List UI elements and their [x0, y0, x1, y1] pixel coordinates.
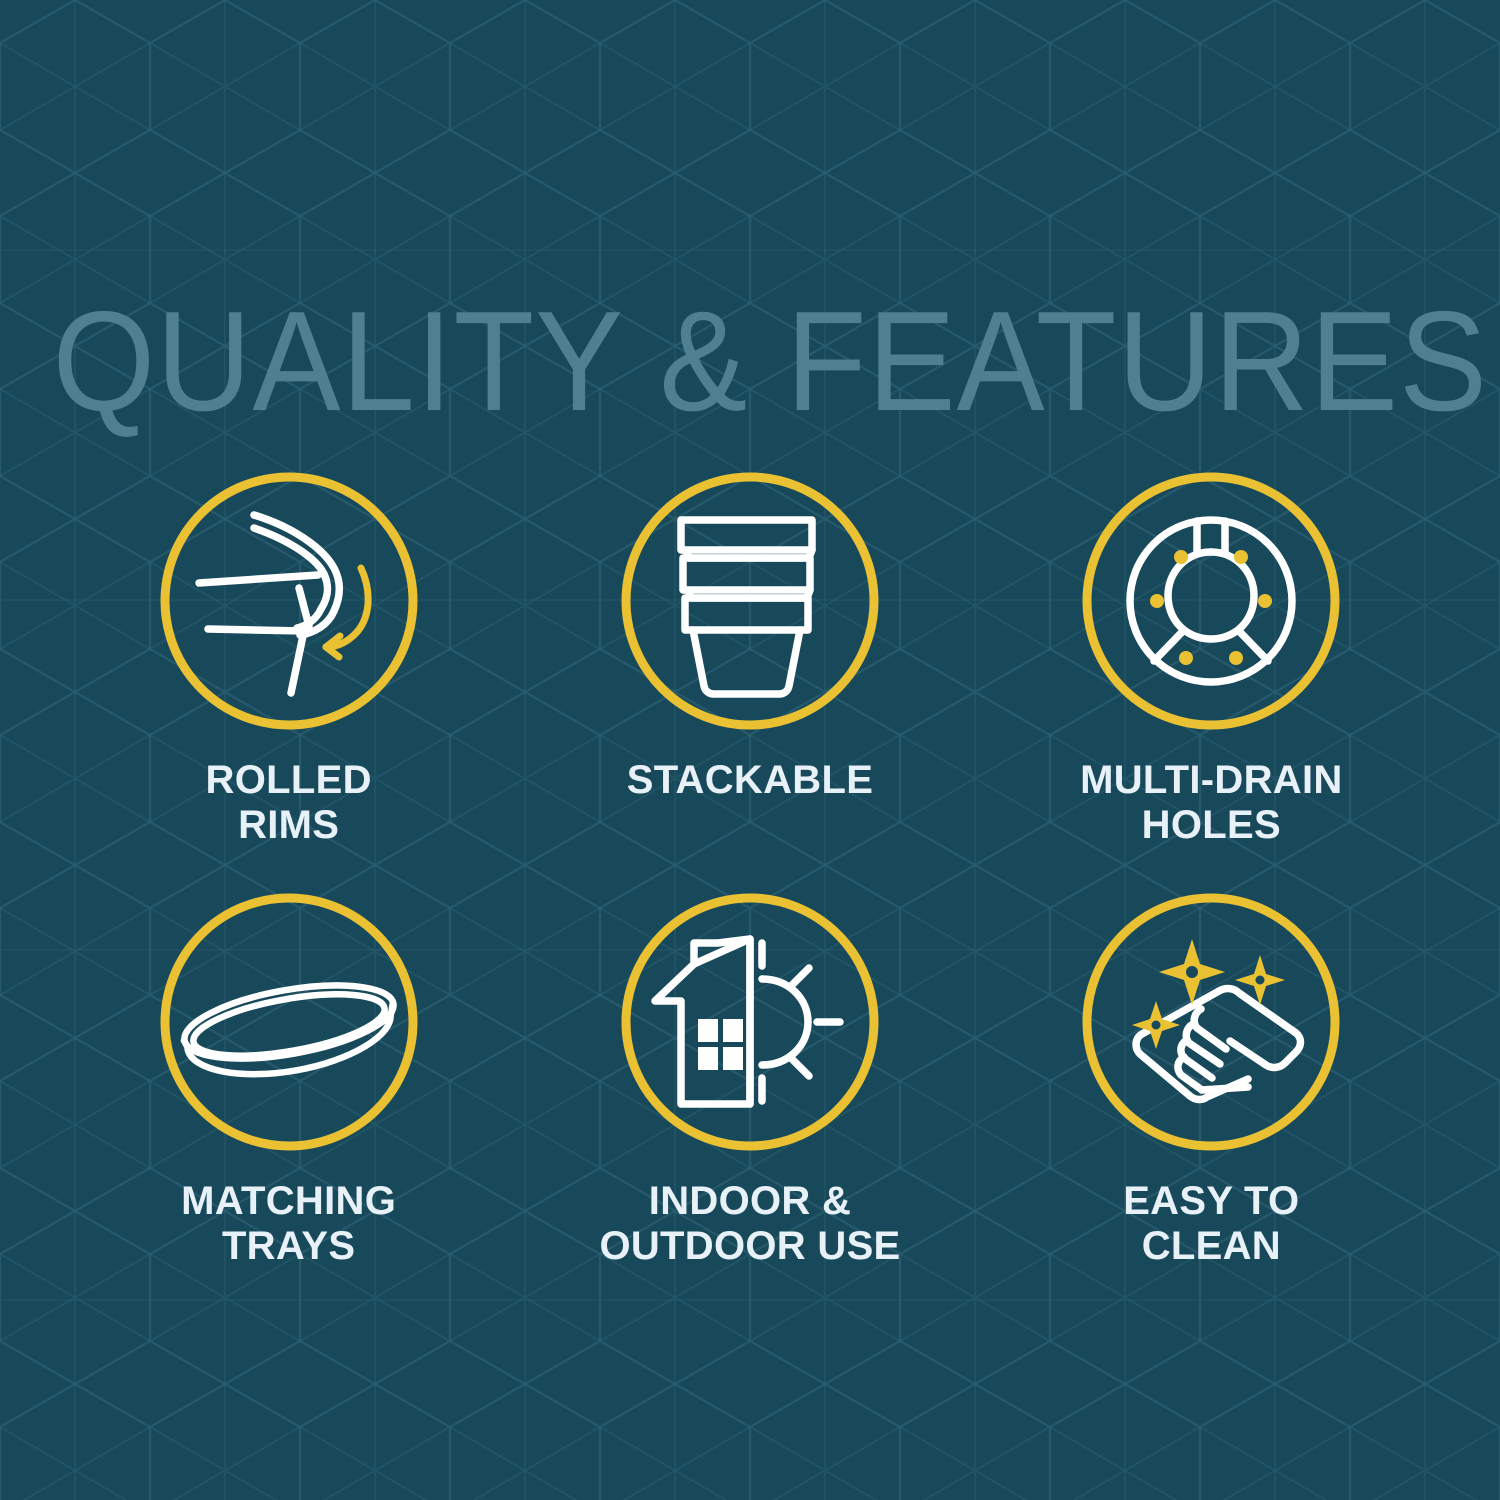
feature-stackable[interactable]: STACKABLE	[519, 470, 980, 891]
feature-label: INDOOR & OUTDOOR USE	[599, 1179, 900, 1269]
hand-wipe-sparkle-icon	[1080, 891, 1342, 1153]
stackable-badge	[619, 470, 881, 732]
infographic-panel: QUALITY & FEATURES	[0, 0, 1500, 1500]
feature-easy-to-clean[interactable]: EASY TO CLEAN	[981, 891, 1442, 1312]
feature-label: MULTI-DRAIN HOLES	[1080, 758, 1343, 848]
drain-holes-icon	[1080, 470, 1342, 732]
feature-multi-drain-holes[interactable]: MULTI-DRAIN HOLES	[981, 470, 1442, 891]
multi-drain-holes-badge	[1080, 470, 1342, 732]
matching-trays-badge	[158, 891, 420, 1153]
feature-label: MATCHING TRAYS	[181, 1179, 396, 1269]
features-grid: ROLLED RIMS STACKABLE	[0, 470, 1500, 1312]
stacked-pots-icon	[619, 470, 881, 732]
feature-rolled-rims[interactable]: ROLLED RIMS	[58, 470, 519, 891]
feature-matching-trays[interactable]: MATCHING TRAYS	[58, 891, 519, 1312]
rolled-rim-icon	[158, 470, 420, 732]
tray-saucer-icon	[158, 891, 420, 1153]
feature-label: ROLLED RIMS	[206, 758, 372, 848]
indoor-outdoor-badge	[619, 891, 881, 1153]
house-sun-icon	[619, 891, 881, 1153]
page-title: QUALITY & FEATURES	[53, 291, 1448, 433]
feature-label: STACKABLE	[627, 758, 873, 803]
feature-label: EASY TO CLEAN	[1123, 1179, 1299, 1269]
feature-indoor-outdoor-use[interactable]: INDOOR & OUTDOOR USE	[519, 891, 980, 1312]
rolled-rims-badge	[158, 470, 420, 732]
easy-to-clean-badge	[1080, 891, 1342, 1153]
